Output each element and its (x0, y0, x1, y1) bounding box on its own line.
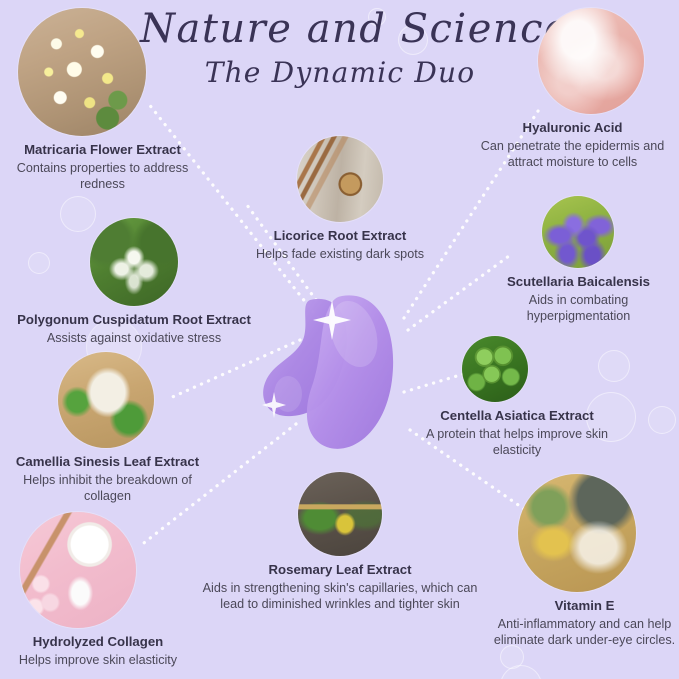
ingredient-licorice[interactable]: Licorice Root Extract Helps fade existin… (232, 136, 448, 262)
centella-title: Centella Asiatica Extract (404, 408, 630, 425)
hyaluronic-title: Hyaluronic Acid (466, 120, 679, 137)
rosemary-description: Aids in strengthening skin's capillaries… (192, 580, 488, 613)
collagen-image (20, 512, 136, 628)
vitamine-image (518, 474, 636, 592)
ingredient-collagen[interactable]: Hydrolyzed Collagen Helps improve skin e… (0, 512, 196, 668)
ingredient-hyaluronic[interactable]: Hyaluronic Acid Can penetrate the epider… (466, 8, 679, 170)
scutellaria-title: Scutellaria Baicalensis (478, 274, 679, 291)
camellia-title: Camellia Sinesis Leaf Extract (0, 454, 215, 471)
ingredient-vitamine[interactable]: Vitamin E Anti-inflammatory and can help… (490, 474, 679, 648)
ingredient-camellia[interactable]: Camellia Sinesis Leaf Extract Helps inhi… (0, 352, 215, 504)
polygonum-image (90, 218, 178, 306)
decorative-bubble (500, 645, 524, 669)
camellia-description: Helps inhibit the breakdown of collagen (0, 472, 215, 505)
centella-image (462, 336, 528, 402)
licorice-image (297, 136, 383, 222)
ingredient-centella[interactable]: Centella Asiatica Extract A protein that… (404, 336, 630, 458)
polygonum-title: Polygonum Cuspidatum Root Extract (0, 312, 268, 329)
vitamine-title: Vitamin E (490, 598, 679, 615)
licorice-title: Licorice Root Extract (232, 228, 448, 245)
eye-patch-graphic (258, 282, 428, 462)
polygonum-description: Assists against oxidative stress (0, 330, 268, 346)
licorice-description: Helps fade existing dark spots (232, 246, 448, 262)
infographic-canvas: Nature and Science The Dynamic Duo (0, 0, 679, 679)
ingredient-matricaria[interactable]: Matricaria Flower Extract Contains prope… (0, 8, 205, 192)
scutellaria-image (542, 196, 614, 268)
decorative-bubble (648, 406, 676, 434)
hyaluronic-image (538, 8, 644, 114)
rosemary-title: Rosemary Leaf Extract (192, 562, 488, 579)
camellia-image (58, 352, 154, 448)
decorative-bubble (500, 665, 542, 679)
ingredient-scutellaria[interactable]: Scutellaria Baicalensis Aids in combatin… (478, 196, 679, 324)
collagen-description: Helps improve skin elasticity (0, 652, 196, 668)
vitamine-description: Anti-inflammatory and can help eliminate… (490, 616, 679, 649)
rosemary-image (298, 472, 382, 556)
matricaria-title: Matricaria Flower Extract (0, 142, 205, 159)
hyaluronic-description: Can penetrate the epidermis and attract … (466, 138, 679, 171)
centella-description: A protein that helps improve skin elasti… (404, 426, 630, 459)
ingredient-polygonum[interactable]: Polygonum Cuspidatum Root Extract Assist… (0, 218, 268, 346)
scutellaria-description: Aids in combating hyperpigmentation (478, 292, 679, 325)
collagen-title: Hydrolyzed Collagen (0, 634, 196, 651)
matricaria-image (18, 8, 146, 136)
ingredient-rosemary[interactable]: Rosemary Leaf Extract Aids in strengthen… (192, 472, 488, 612)
matricaria-description: Contains properties to address redness (0, 160, 205, 193)
